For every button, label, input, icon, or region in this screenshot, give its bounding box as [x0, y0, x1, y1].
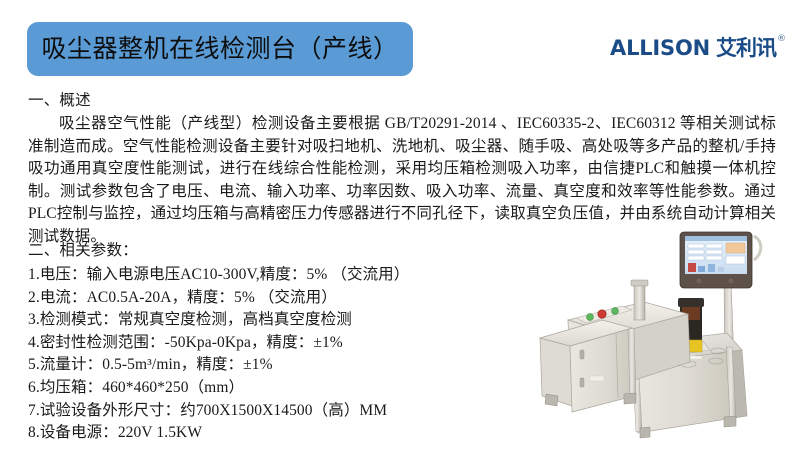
- machine-foot: [624, 393, 636, 404]
- guide-column: [634, 284, 645, 320]
- button-reset-green: [612, 308, 619, 315]
- hmi-button-left: [696, 278, 702, 284]
- door-latch: [580, 350, 584, 359]
- list-item: 1.电压：输入电源电压AC10-300V,精度：5% （交流用）: [28, 264, 548, 287]
- logo-text-cn: 艾利讯: [716, 36, 776, 60]
- left-cabinet: [540, 320, 636, 412]
- list-item: 4.密封性检测范围：-50Kpa-0Kpa，精度：±1%: [28, 332, 548, 355]
- hmi-button-right: [728, 278, 734, 284]
- list-item: 7.试验设备外形尺寸：约700X1500X14500（高）MM: [28, 400, 548, 423]
- company-logo: ALLISON 艾利讯 ®: [610, 36, 786, 64]
- nameplate: [590, 376, 604, 381]
- logo-text-en: ALLISON: [610, 36, 710, 60]
- machine-foot: [640, 427, 650, 438]
- parameter-list: 1.电压：输入电源电压AC10-300V,精度：5% （交流用） 2.电流：AC…: [28, 264, 548, 445]
- machine-foot: [724, 416, 736, 427]
- hmi-screen-header: [685, 236, 747, 241]
- test-head-cap: [678, 298, 704, 307]
- overview-section: 一、概述 吸尘器空气性能（产线型）检测设备主要根据 GB/T20291-2014…: [28, 90, 776, 248]
- overview-heading: 一、概述: [28, 90, 776, 112]
- button-start-green: [587, 314, 594, 321]
- registered-trademark-icon: ®: [777, 35, 786, 44]
- slide-root: 吸尘器整机在线检测台（产线） ALLISON 艾利讯 ® 一、概述 吸尘器空气性…: [0, 0, 800, 450]
- parameters-heading: 二、相关参数：: [28, 240, 548, 262]
- machine-photo: [528, 228, 796, 448]
- page-title: 吸尘器整机在线检测台（产线）: [41, 37, 398, 62]
- list-item: 3.检测模式：常规真空度检测，高档真空度检测: [28, 309, 548, 332]
- hmi-cable: [754, 236, 761, 260]
- guide-column-cap: [631, 280, 648, 286]
- parameters-section: 二、相关参数： 1.电压：输入电源电压AC10-300V,精度：5% （交流用）…: [28, 240, 548, 445]
- machine-foot: [545, 394, 558, 406]
- button-emergency-stop-red: [598, 310, 606, 318]
- door-latch: [580, 378, 584, 387]
- test-bench-illustration: [528, 228, 796, 448]
- list-item: 2.电流：AC0.5A-20A，精度：5% （交流用）: [28, 287, 548, 310]
- title-banner: 吸尘器整机在线检测台（产线）: [27, 22, 413, 76]
- list-item: 6.均压箱：460*460*250（mm）: [28, 377, 548, 400]
- list-item: 5.流量计：0.5-5m³/min，精度：±1%: [28, 354, 548, 377]
- list-item: 8.设备电源：220V 1.5KW: [28, 422, 548, 445]
